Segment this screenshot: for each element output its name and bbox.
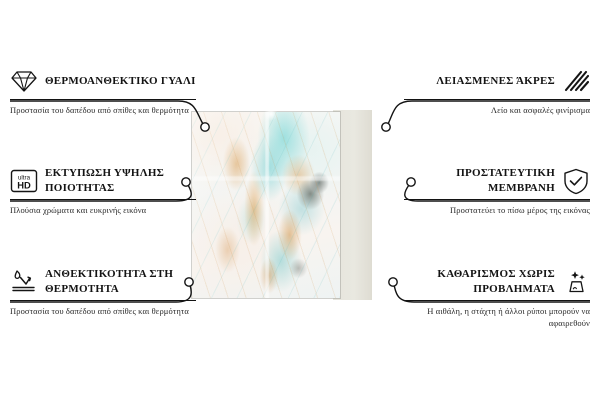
feature-title: ΑΝΘΕΚΤΙΚΟΤΗΤΑ ΣΤΗ ΘΕΡΜΟΤΗΤΑ: [45, 267, 196, 296]
feature-heat-durability: ΑΝΘΕΚΤΙΚΟΤΗΤΑ ΣΤΗ ΘΕΡΜΟΤΗΤΑ Προστασία το…: [10, 267, 196, 317]
feature-protective-membrane: ΠΡΟΣΤΑΤΕΥΤΙΚΗ ΜΕΜΒΡΑΝΗ Προστατεύει το πί…: [404, 166, 590, 216]
feature-heat-resistant-glass: ΘΕΡΜΟΑΝΘΕΚΤΙΚΟ ΓΥΑΛΙ Προστασία του δαπέδ…: [10, 66, 196, 116]
feature-description: Προστατεύει το πίσω μέρος της εικόνας: [404, 204, 590, 216]
feature-divider: [10, 199, 196, 200]
product-image: [180, 110, 420, 300]
feature-title: ΘΕΡΜΟΑΝΘΕΚΤΙΚΟ ΓΥΑΛΙ: [45, 74, 196, 89]
shield-check-icon: [562, 167, 590, 195]
artwork-reflection-layer: [192, 112, 340, 298]
feature-title: ΕΚΤΥΠΩΣΗ ΥΨΗΛΗΣ ΠΟΙΟΤΗΤΑΣ: [45, 166, 196, 195]
feature-header: ΛΕΙΑΣΜΕΝΕΣ ΆΚΡΕΣ: [404, 66, 590, 96]
feature-high-quality-print: ultra HD ΕΚΤΥΠΩΣΗ ΥΨΗΛΗΣ ΠΟΙΟΤΗΤΑΣ Πλούσ…: [10, 166, 196, 216]
feature-header: ΘΕΡΜΟΑΝΘΕΚΤΙΚΟ ΓΥΑΛΙ: [10, 66, 196, 96]
feature-divider: [404, 199, 590, 200]
spray-sparkle-icon: [562, 268, 590, 296]
diamond-icon: [10, 67, 38, 95]
ultra-hd-icon: ultra HD: [10, 167, 38, 195]
feature-divider: [404, 300, 590, 301]
feature-divider: [10, 99, 196, 100]
feature-description: Προστασία του δαπέδου από σπίθες και θερ…: [10, 305, 196, 317]
feature-description: Η αιθάλη, η στάχτη ή άλλοι ρύποι μπορούν…: [404, 305, 590, 330]
feature-title: ΚΑΘΑΡΙΣΜΟΣ ΧΩΡΙΣ ΠΡΟΒΛΗΜΑΤΑ: [404, 267, 555, 296]
feature-polished-edges: ΛΕΙΑΣΜΕΝΕΣ ΆΚΡΕΣ Λείο και ασφαλές φινίρι…: [404, 66, 590, 116]
feature-description: Πλούσια χρώματα και ευκρινής εικόνα: [10, 204, 196, 216]
feature-description: Λείο και ασφαλές φινίρισμα: [404, 104, 590, 116]
feature-title: ΠΡΟΣΤΑΤΕΥΤΙΚΗ ΜΕΜΒΡΑΝΗ: [404, 166, 555, 195]
glass-panel: [192, 112, 340, 298]
glass-sparkle-highlight: [264, 107, 278, 121]
feature-easy-cleaning: ΚΑΘΑΡΙΣΜΟΣ ΧΩΡΙΣ ΠΡΟΒΛΗΜΑΤΑ Η αιθάλη, η …: [404, 267, 590, 330]
feature-header: ΑΝΘΕΚΤΙΚΟΤΗΤΑ ΣΤΗ ΘΕΡΜΟΤΗΤΑ: [10, 267, 196, 297]
feature-title: ΛΕΙΑΣΜΕΝΕΣ ΆΚΡΕΣ: [404, 74, 555, 89]
feature-divider: [404, 99, 590, 100]
feature-header: ΠΡΟΣΤΑΤΕΥΤΙΚΗ ΜΕΜΒΡΑΝΗ: [404, 166, 590, 196]
feature-divider: [10, 300, 196, 301]
svg-text:HD: HD: [17, 179, 31, 190]
product-feature-infographic: ΘΕΡΜΟΑΝΘΕΚΤΙΚΟ ΓΥΑΛΙ Προστασία του δαπέδ…: [0, 0, 600, 400]
polished-edges-icon: [562, 67, 590, 95]
feature-header: ultra HD ΕΚΤΥΠΩΣΗ ΥΨΗΛΗΣ ΠΟΙΟΤΗΤΑΣ: [10, 166, 196, 196]
feature-description: Προστασία του δαπέδου από σπίθες και θερ…: [10, 104, 196, 116]
feature-header: ΚΑΘΑΡΙΣΜΟΣ ΧΩΡΙΣ ΠΡΟΒΛΗΜΑΤΑ: [404, 267, 590, 297]
heat-resistance-icon: [10, 268, 38, 296]
